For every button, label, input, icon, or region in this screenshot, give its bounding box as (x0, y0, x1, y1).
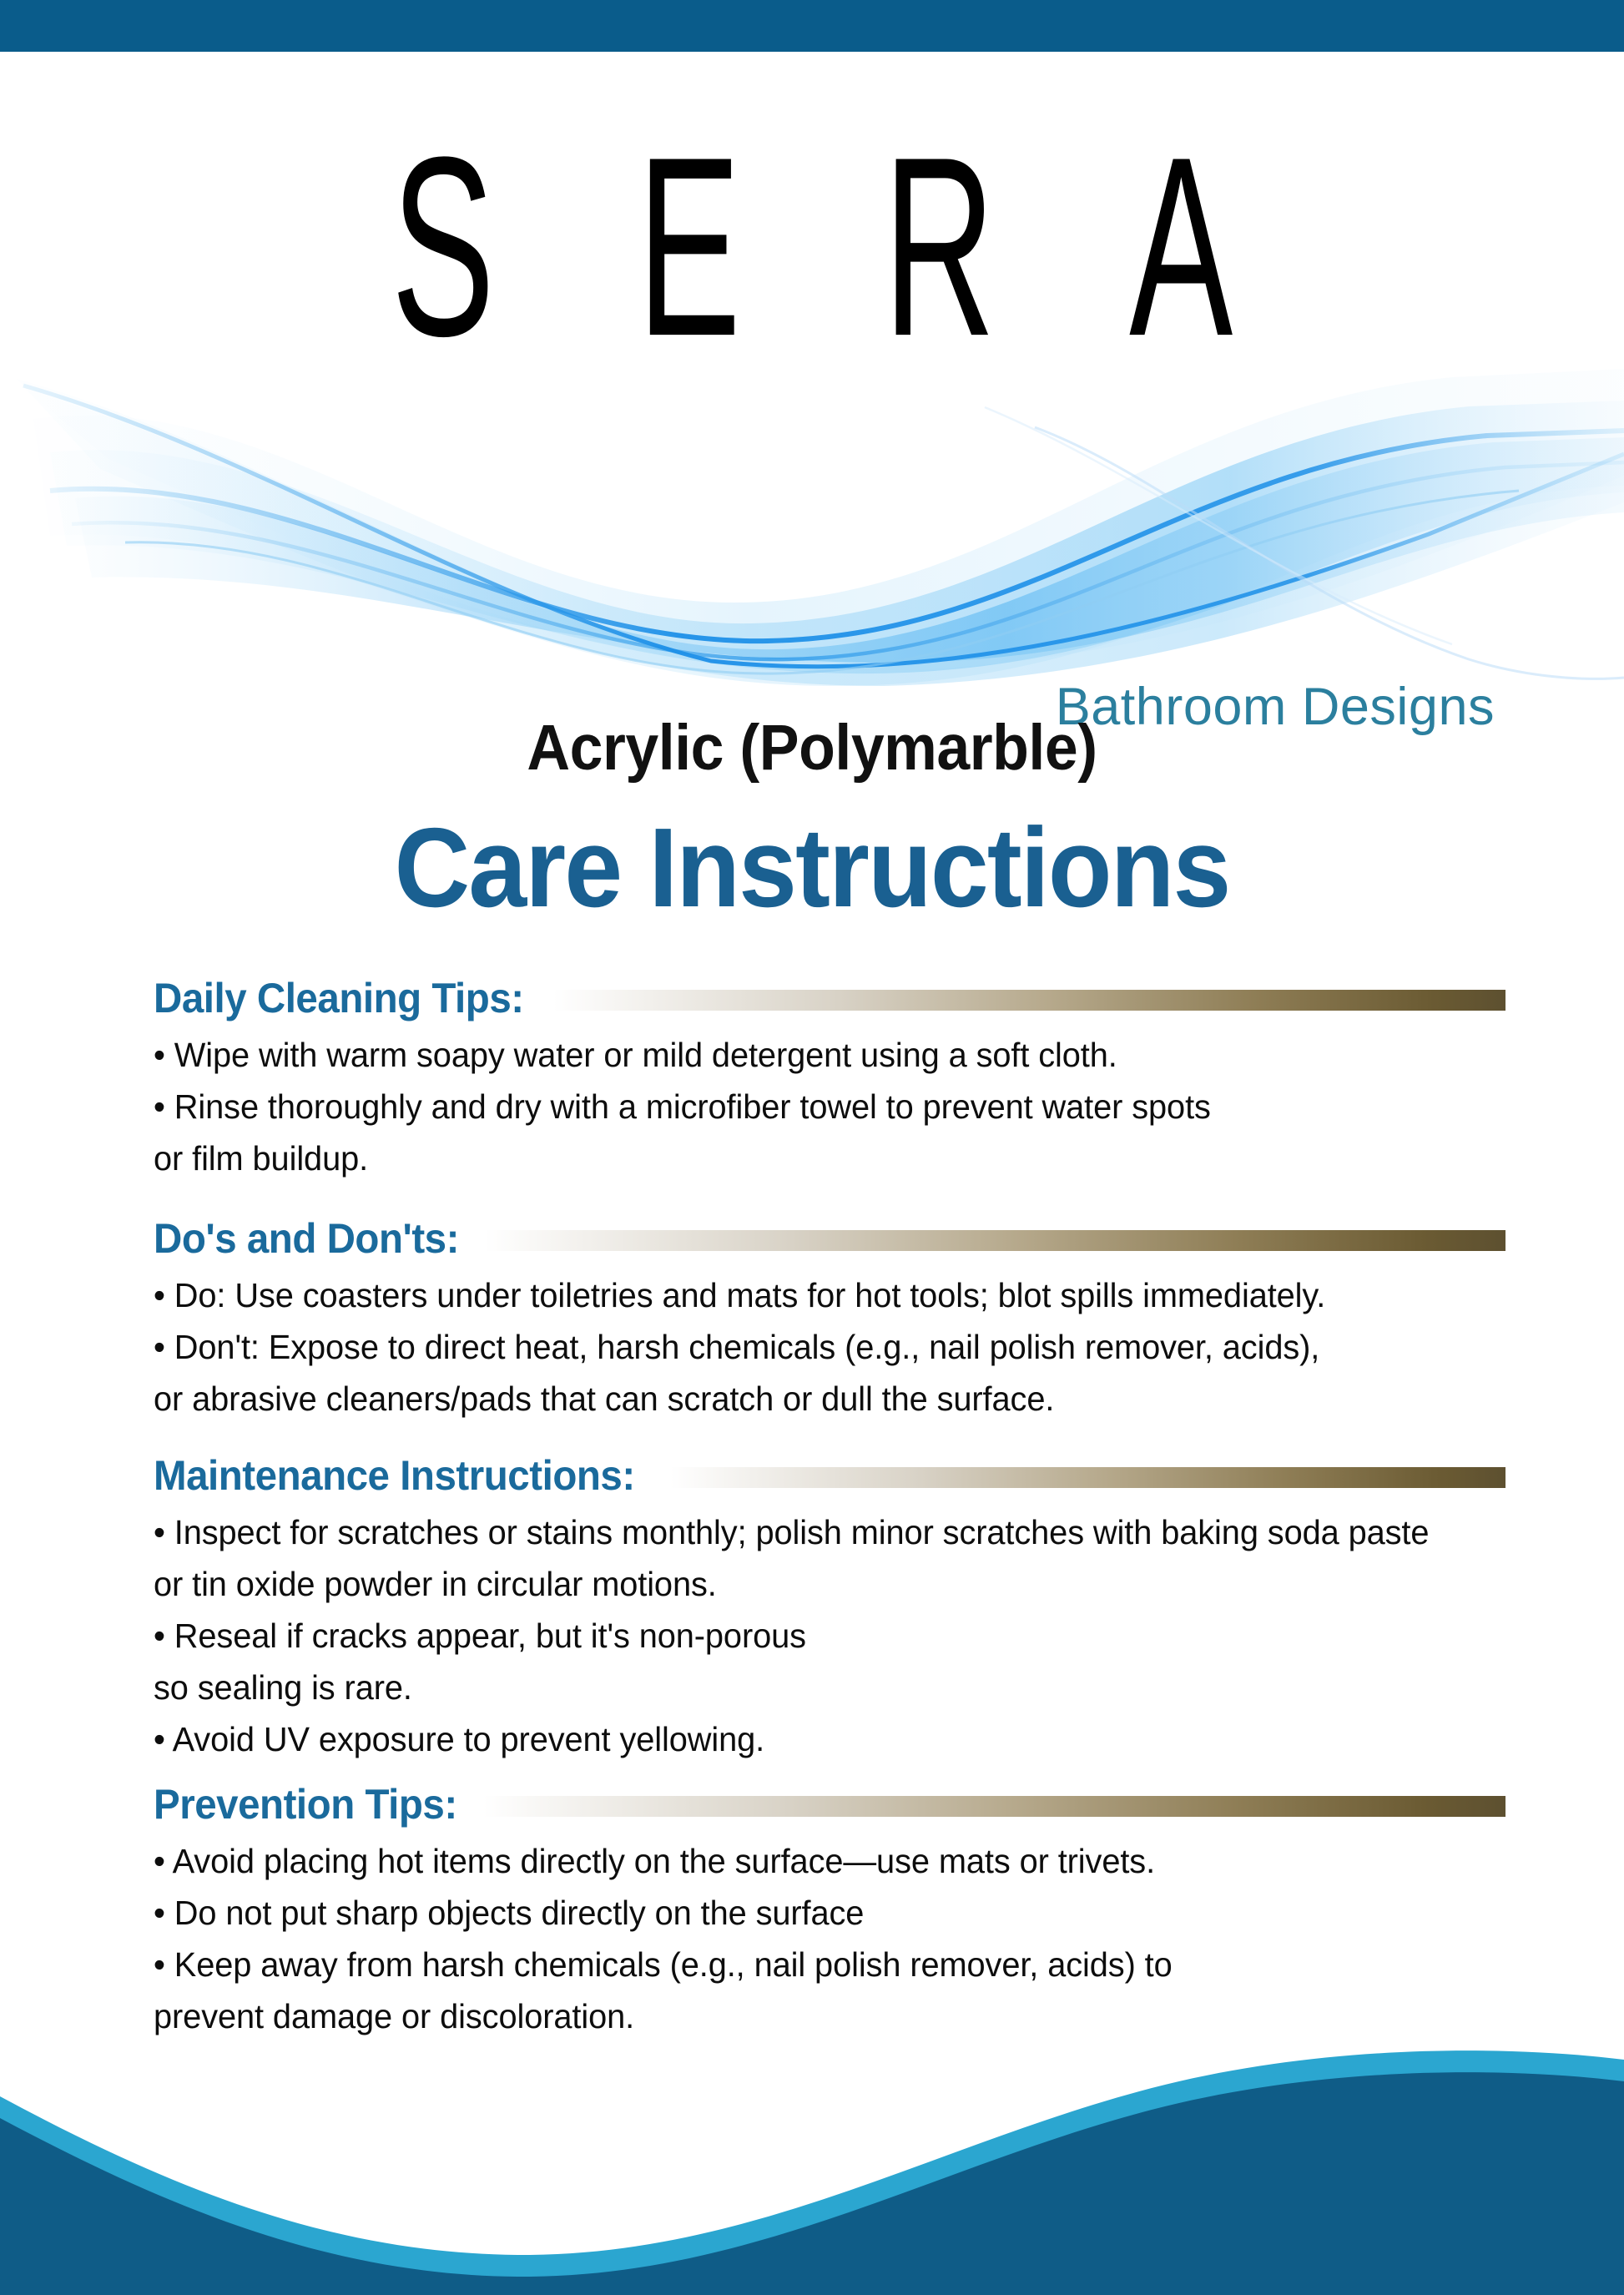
section-maintenance-instructions: Maintenance Instructions: • Inspect for … (154, 1450, 1505, 1765)
bullet-line: so sealing is rare. (154, 1662, 1465, 1713)
brand-logo-text: S E R A (309, 119, 1316, 374)
section-heading: Prevention Tips: (154, 1781, 457, 1828)
footer-wave-graphic (0, 2045, 1624, 2295)
bullet-line: • Keep away from harsh chemicals (e.g., … (154, 1939, 1465, 1990)
section-rule (670, 1467, 1505, 1488)
bullet-line: • Avoid placing hot items directly on th… (154, 1835, 1465, 1887)
section-prevention-tips: Prevention Tips: • Avoid placing hot ite… (154, 1778, 1505, 2042)
section-header: Maintenance Instructions: (154, 1450, 1505, 1501)
bullet-line: or tin oxide powder in circular motions. (154, 1558, 1465, 1610)
section-spacer (154, 1184, 1505, 1213)
section-heading: Daily Cleaning Tips: (154, 975, 524, 1021)
brand-header: S E R A (0, 52, 1624, 686)
bullet-line: prevent damage or discoloration. (154, 1990, 1465, 2042)
section-heading: Do's and Don'ts: (154, 1215, 459, 1262)
section-header: Do's and Don'ts: (154, 1213, 1505, 1264)
care-instructions-poster: S E R A (0, 0, 1624, 2295)
instructions-body: Daily Cleaning Tips: • Wipe with warm so… (154, 972, 1505, 2042)
bullet-line: • Rinse thoroughly and dry with a microf… (154, 1081, 1465, 1132)
bullet-list: • Do: Use coasters under toiletries and … (154, 1269, 1505, 1425)
section-header: Daily Cleaning Tips: (154, 972, 1505, 1024)
bullet-line: • Reseal if cracks appear, but it's non-… (154, 1610, 1465, 1662)
section-rule (485, 1230, 1505, 1251)
bullet-list: • Inspect for scratches or stains monthl… (154, 1506, 1505, 1765)
bullet-line: • Do not put sharp objects directly on t… (154, 1887, 1465, 1939)
top-accent-bar (0, 0, 1624, 52)
section-spacer (154, 1765, 1505, 1778)
bullet-line: • Don't: Expose to direct heat, harsh ch… (154, 1321, 1465, 1373)
bullet-list: • Wipe with warm soapy water or mild det… (154, 1029, 1505, 1184)
bullet-line: or film buildup. (154, 1132, 1465, 1184)
bullet-line: • Do: Use coasters under toiletries and … (154, 1269, 1465, 1321)
section-rule (553, 990, 1505, 1011)
bullet-line: • Wipe with warm soapy water or mild det… (154, 1029, 1465, 1081)
section-rule (483, 1796, 1505, 1817)
section-header: Prevention Tips: (154, 1778, 1505, 1830)
section-heading: Maintenance Instructions: (154, 1452, 635, 1499)
bullet-line: • Inspect for scratches or stains monthl… (154, 1506, 1465, 1558)
product-subtitle: Acrylic (Polymarble) (57, 714, 1567, 782)
bullet-list: • Avoid placing hot items directly on th… (154, 1835, 1505, 2042)
section-spacer (154, 1425, 1505, 1450)
page-title: Care Instructions (57, 805, 1567, 931)
bullet-line: or abrasive cleaners/pads that can scrat… (154, 1373, 1465, 1425)
bullet-line: • Avoid UV exposure to prevent yellowing… (154, 1713, 1465, 1765)
section-dos-and-donts: Do's and Don'ts: • Do: Use coasters unde… (154, 1213, 1505, 1425)
section-daily-cleaning-tips: Daily Cleaning Tips: • Wipe with warm so… (154, 972, 1505, 1184)
